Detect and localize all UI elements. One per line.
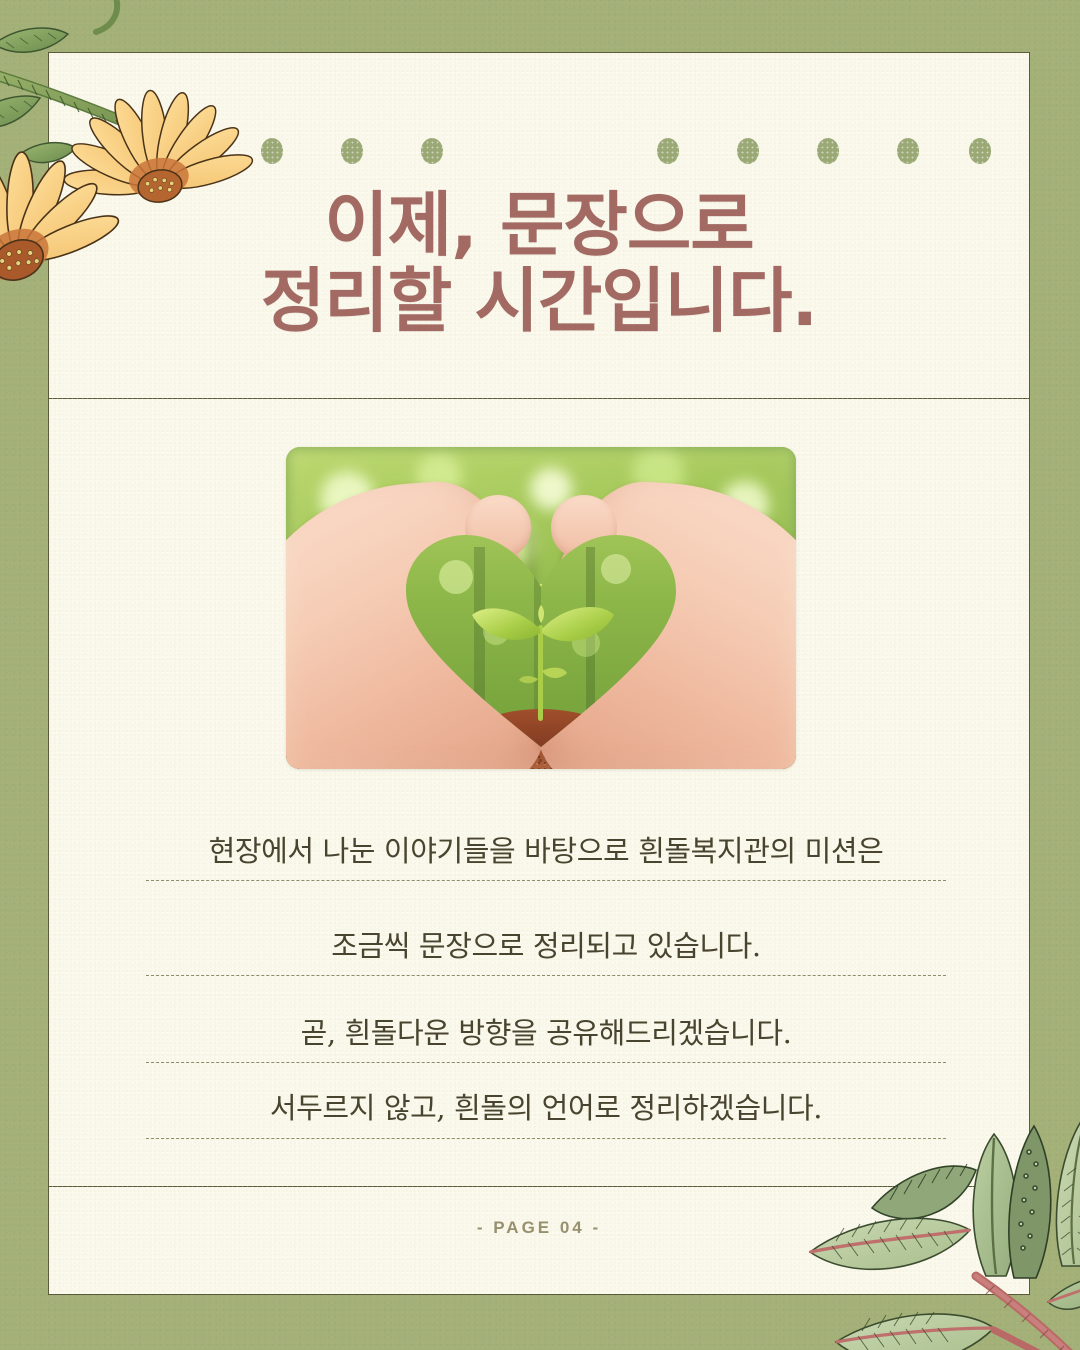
divider-rule-bottom [49,1186,1029,1187]
punch-hole [969,138,991,164]
body-line-text: 서두르지 않고, 흰돌의 언어로 정리하겠습니다. [270,1091,822,1125]
punch-hole [897,138,919,164]
punch-hole [421,138,443,164]
punch-hole [657,138,679,164]
photo-inner [286,447,796,769]
leaf [836,1312,994,1350]
leaf-stem [994,1330,1080,1350]
body-gap [146,881,946,927]
page-title: 이제, 문장으로 정리할 시간입니다. [49,188,1029,339]
body-line: 조금씩 문장으로 정리되고 있습니다. [146,927,946,976]
body-text-block: 현장에서 나눈 이야기들을 바탕으로 흰돌복지관의 미션은 조금씩 문장으로 정… [146,832,946,1139]
leaf [1048,1277,1080,1309]
body-line-rule [146,975,946,976]
body-gap [146,976,946,1014]
flower-branch [34,0,179,32]
body-gap [146,1063,946,1089]
page-number: - PAGE 04 - [49,1218,1029,1238]
punch-hole [341,138,363,164]
body-line-rule [146,1138,946,1139]
body-line: 곧, 흰돌다운 방향을 공유해드리겠습니다. [146,1014,946,1063]
title-line-2: 정리할 시간입니다. [49,264,1029,340]
daisy-flower [149,0,275,10]
body-line-text: 조금씩 문장으로 정리되고 있습니다. [331,929,760,963]
body-line: 현장에서 나눈 이야기들을 바탕으로 흰돌복지관의 미션은 [146,832,946,881]
punch-hole [101,138,123,164]
body-line-rule [146,880,946,881]
punch-hole [817,138,839,164]
punch-hole [261,138,283,164]
divider-rule-top [49,398,1029,399]
poster-canvas: 이제, 문장으로 정리할 시간입니다. [0,0,1080,1350]
punch-hole [737,138,759,164]
heart-aperture [286,447,796,769]
hero-photo [286,447,796,769]
leaf [1056,1114,1080,1266]
title-line-1: 이제, 문장으로 [49,188,1029,264]
body-line-text: 현장에서 나눈 이야기들을 바탕으로 흰돌복지관의 미션은 [209,834,884,868]
body-line-rule [146,1062,946,1063]
body-line: 서두르지 않고, 흰돌의 언어로 정리하겠습니다. [146,1089,946,1138]
body-line-text: 곧, 흰돌다운 방향을 공유해드리겠습니다. [301,1016,792,1050]
paper-sheet: 이제, 문장으로 정리할 시간입니다. [48,52,1030,1295]
